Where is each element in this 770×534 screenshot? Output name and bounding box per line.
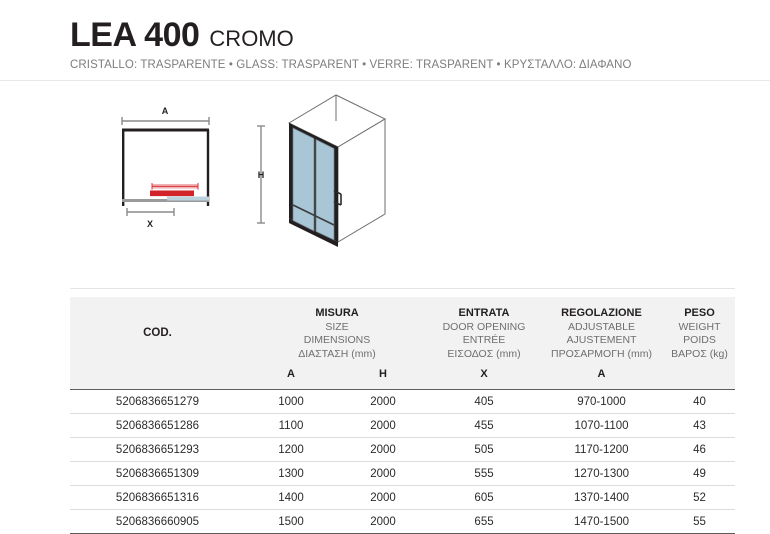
cell-cod: 5206836660905 <box>70 510 245 534</box>
specification-table: COD. MISURA SIZE DIMENSIONS ΔΙΑΣΤΑΣΗ (mm… <box>70 297 735 534</box>
dimension-arrow-a <box>122 117 209 125</box>
cell-a: 1200 <box>245 438 337 462</box>
glass-segment <box>167 197 209 201</box>
cell-adj: 1070-1100 <box>539 414 664 438</box>
technical-drawings: A <box>0 81 770 276</box>
dimension-label-h: H <box>258 170 265 180</box>
col-header-weight-it: PESO <box>664 306 735 321</box>
cell-weight: 55 <box>664 510 735 534</box>
col-header-cod-label: COD. <box>70 326 245 341</box>
col-header-size-it: MISURA <box>245 306 429 321</box>
col-symbol-adj: A <box>539 364 664 390</box>
glass-specification: CRISTALLO: TRASPARENTE • GLASS: TRASPARE… <box>70 59 770 71</box>
cell-cod: 5206836651309 <box>70 462 245 486</box>
col-header-opening-fr: ENTRÉE <box>429 334 539 348</box>
cell-x: 655 <box>429 510 539 534</box>
cell-a: 1400 <box>245 486 337 510</box>
cell-x: 505 <box>429 438 539 462</box>
cell-a: 1300 <box>245 462 337 486</box>
col-symbol-weight <box>664 364 735 390</box>
dimension-arrow-x <box>127 208 174 216</box>
table-row: 5206836651309130020005551270-130049 <box>70 462 735 486</box>
dimension-label-a: A <box>162 106 169 116</box>
cell-weight: 43 <box>664 414 735 438</box>
table-header: COD. MISURA SIZE DIMENSIONS ΔΙΑΣΤΑΣΗ (mm… <box>70 297 735 390</box>
col-header-cod: COD. <box>70 297 245 364</box>
cell-x: 555 <box>429 462 539 486</box>
col-header-adjustable-en: ADJUSTABLE <box>539 321 664 335</box>
cell-x: 405 <box>429 390 539 414</box>
cell-adj: 1470-1500 <box>539 510 664 534</box>
cell-a: 1100 <box>245 414 337 438</box>
cell-a: 1500 <box>245 510 337 534</box>
col-header-opening-it: ENTRATA <box>429 306 539 321</box>
title-row: LEA 400 CROMO <box>70 18 770 52</box>
finish-label: CROMO <box>209 28 293 50</box>
col-header-adjustable-it: REGOLAZIONE <box>539 306 664 321</box>
front-elevation-drawing: A <box>104 101 254 261</box>
cell-weight: 49 <box>664 462 735 486</box>
page-title: LEA 400 <box>70 18 199 52</box>
col-header-size-fr: DIMENSIONS <box>245 334 429 348</box>
cell-adj: 1270-1300 <box>539 462 664 486</box>
cell-h: 2000 <box>337 390 429 414</box>
col-header-size-el: ΔΙΑΣΤΑΣΗ (mm) <box>245 348 429 362</box>
col-symbol-x: X <box>429 364 539 390</box>
sliding-travel-indicator <box>150 183 198 196</box>
table-row: 5206836660905150020006551470-150055 <box>70 510 735 534</box>
col-header-opening-en: DOOR OPENING <box>429 321 539 335</box>
col-symbol-cod <box>70 364 245 390</box>
col-header-opening: ENTRATA DOOR OPENING ENTRÉE ΕΙΣΟΔΟΣ (mm) <box>429 297 539 364</box>
cell-cod: 5206836651316 <box>70 486 245 510</box>
cell-x: 455 <box>429 414 539 438</box>
col-header-weight: PESO WEIGHT POIDS ΒΑΡΟΣ (kg) <box>664 297 735 364</box>
specification-table-container: COD. MISURA SIZE DIMENSIONS ΔΙΑΣΤΑΣΗ (mm… <box>70 297 735 534</box>
isometric-drawing: H <box>248 86 428 261</box>
col-symbol-a: A <box>245 364 337 390</box>
cell-h: 2000 <box>337 438 429 462</box>
col-header-weight-fr: POIDS <box>664 334 735 348</box>
cell-cod: 5206836651293 <box>70 438 245 462</box>
cell-weight: 52 <box>664 486 735 510</box>
table-row: 5206836651286110020004551070-110043 <box>70 414 735 438</box>
page-header: LEA 400 CROMO CRISTALLO: TRASPARENTE • G… <box>0 0 770 81</box>
table-body: 520683665127910002000405970-100040520683… <box>70 390 735 534</box>
cell-h: 2000 <box>337 486 429 510</box>
col-header-adjustable: REGOLAZIONE ADJUSTABLE AJUSTEMENT ΠΡΟΣΑΡ… <box>539 297 664 364</box>
cell-h: 2000 <box>337 414 429 438</box>
col-symbol-h: H <box>337 364 429 390</box>
col-header-size: MISURA SIZE DIMENSIONS ΔΙΑΣΤΑΣΗ (mm) <box>245 297 429 364</box>
col-header-weight-el: ΒΑΡΟΣ (kg) <box>664 348 735 362</box>
col-header-adjustable-el: ΠΡΟΣΑΡΜΟΓΗ (mm) <box>539 348 664 362</box>
cell-h: 2000 <box>337 510 429 534</box>
table-row: 520683665127910002000405970-100040 <box>70 390 735 414</box>
cell-cod: 5206836651286 <box>70 414 245 438</box>
cell-weight: 46 <box>664 438 735 462</box>
col-header-weight-en: WEIGHT <box>664 321 735 335</box>
cell-x: 605 <box>429 486 539 510</box>
cell-adj: 970-1000 <box>539 390 664 414</box>
table-row: 5206836651316140020006051370-140052 <box>70 486 735 510</box>
cell-adj: 1170-1200 <box>539 438 664 462</box>
table-row: 5206836651293120020005051170-120046 <box>70 438 735 462</box>
cell-cod: 5206836651279 <box>70 390 245 414</box>
section-divider <box>70 288 735 289</box>
col-header-opening-el: ΕΙΣΟΔΟΣ (mm) <box>429 348 539 362</box>
cell-a: 1000 <box>245 390 337 414</box>
col-header-size-en: SIZE <box>245 321 429 335</box>
dimension-label-x: X <box>147 219 153 229</box>
cell-adj: 1370-1400 <box>539 486 664 510</box>
cell-weight: 40 <box>664 390 735 414</box>
col-header-adjustable-fr: AJUSTEMENT <box>539 334 664 348</box>
cell-h: 2000 <box>337 462 429 486</box>
